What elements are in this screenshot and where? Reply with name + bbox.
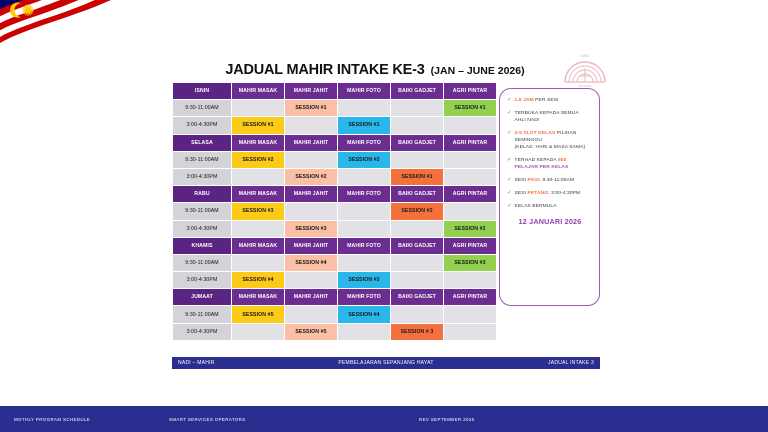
- empty-cell: [285, 306, 338, 323]
- empty-cell: [444, 203, 497, 220]
- time-slot-label: 9:30-11:00AM: [173, 306, 232, 323]
- session-cell[interactable]: SESSION #1: [232, 117, 285, 134]
- table-footer-right: JADUAL INTAKE 3: [457, 360, 600, 366]
- check-icon: ✓: [507, 130, 512, 137]
- schedule-row: 3:00-4:30PMSESSION #3SESSION #2: [173, 220, 497, 237]
- day-name-khamis: KHAMIS: [173, 237, 232, 254]
- empty-cell: [391, 306, 444, 323]
- page-footer-left: MOTHLY PROGRAM SCHEDULE: [14, 417, 154, 422]
- column-header-agri-pintar: AGRI PINTAR: [444, 83, 497, 100]
- page-title: JADUAL MAHIR INTAKE KE-3 (JAN – JUNE 202…: [175, 56, 575, 78]
- info-bullet: ✓3-5 SLOT KELAS PILIHANSEMINGGU(KELAS: H…: [507, 130, 593, 152]
- column-header-baiki-gadjet: BAIKI GADJET: [391, 186, 444, 203]
- info-bullet: ✓TERHAD KEPADA 500PELAJAR PER KELAS: [507, 157, 593, 171]
- session-cell[interactable]: SESSION #2: [391, 203, 444, 220]
- session-cell[interactable]: SESSION #2: [232, 151, 285, 168]
- session-cell[interactable]: SESSION #4: [285, 254, 338, 271]
- session-cell[interactable]: SESSION #2: [285, 168, 338, 185]
- session-cell[interactable]: SESSION #2: [338, 151, 391, 168]
- empty-cell: [391, 151, 444, 168]
- info-bullet: ✓TERBUKA KEPADA SEMUAAHLI NADI: [507, 110, 593, 124]
- info-panel: ✓1.5 JAM PER SESI✓TERBUKA KEPADA SEMUAAH…: [499, 88, 600, 306]
- empty-cell: [444, 323, 497, 340]
- info-bullet: ✓KELAS BERMULA: [507, 203, 593, 210]
- column-header-baiki-gadjet: BAIKI GADJET: [391, 134, 444, 151]
- page-footer-right: REV SEPTEMBER 2025: [419, 417, 619, 422]
- empty-cell: [391, 254, 444, 271]
- column-header-mahir-jahit: MAHIR JAHIT: [285, 83, 338, 100]
- column-header-agri-pintar: AGRI PINTAR: [444, 289, 497, 306]
- info-bullet-text: 3-5 SLOT KELAS PILIHANSEMINGGU(KELAS: HA…: [515, 130, 586, 152]
- column-header-mahir-masak: MAHIR MASAK: [232, 237, 285, 254]
- session-cell[interactable]: SESSION #4: [338, 306, 391, 323]
- session-cell[interactable]: SESSION #2: [444, 220, 497, 237]
- schedule-row: 3:00-4:30PMSESSION #4SESSION #3: [173, 272, 497, 289]
- empty-cell: [444, 117, 497, 134]
- nadi-circular-logo: NADI MALAYSIA: [557, 46, 613, 88]
- schedule-row: 9:30-11:00AMSESSION #1SESSION #1: [173, 100, 497, 117]
- session-cell[interactable]: SESSION # 3: [391, 323, 444, 340]
- empty-cell: [232, 220, 285, 237]
- schedule-day-header: RABUMAHIR MASAKMAHIR JAHITMAHIR FOTOBAIK…: [173, 186, 497, 203]
- time-slot-label: 9:30-11:00AM: [173, 100, 232, 117]
- info-bullet: ✓SESI PAGI: 9:30-11:00AM: [507, 177, 593, 184]
- schedule-row: 3:00-4:30PMSESSION #1SESSION #1: [173, 117, 497, 134]
- page-footer-center: SMART SERVICES OPERATORS: [169, 417, 369, 422]
- column-header-mahir-foto: MAHIR FOTO: [338, 289, 391, 306]
- empty-cell: [232, 323, 285, 340]
- session-cell[interactable]: SESSION #5: [285, 323, 338, 340]
- page-footer-bar: MOTHLY PROGRAM SCHEDULE SMART SERVICES O…: [0, 406, 768, 432]
- empty-cell: [338, 220, 391, 237]
- check-icon: ✓: [507, 157, 512, 164]
- empty-cell: [391, 100, 444, 117]
- empty-cell: [338, 100, 391, 117]
- table-footer-center: PEMBELAJARAN SEPANJANG HAYAT: [315, 360, 456, 366]
- session-cell[interactable]: SESSION #3: [285, 220, 338, 237]
- info-bullet-text: SESI PETANG: 3:00-4:30PM: [515, 190, 581, 197]
- schedule-day-header: KHAMISMAHIR MASAKMAHIR JAHITMAHIR FOTOBA…: [173, 237, 497, 254]
- check-icon: ✓: [507, 110, 512, 117]
- empty-cell: [444, 306, 497, 323]
- time-slot-label: 3:00-4:30PM: [173, 220, 232, 237]
- session-cell[interactable]: SESSION #3: [338, 272, 391, 289]
- class-start-date: 12 JANUARI 2026: [507, 217, 593, 226]
- time-slot-label: 9:30-11:00AM: [173, 151, 232, 168]
- schedule-row: 9:30-11:00AMSESSION #3SESSION #2: [173, 203, 497, 220]
- column-header-mahir-jahit: MAHIR JAHIT: [285, 186, 338, 203]
- schedule-row: 3:00-4:30PMSESSION #2SESSION #1: [173, 168, 497, 185]
- time-slot-label: 9:30-11:00AM: [173, 254, 232, 271]
- page-title-main: JADUAL MAHIR INTAKE KE-3: [225, 62, 424, 78]
- column-header-mahir-foto: MAHIR FOTO: [338, 134, 391, 151]
- page-title-period: (JAN – JUNE 2026): [431, 65, 525, 78]
- empty-cell: [338, 254, 391, 271]
- malaysia-flag: [0, 0, 160, 66]
- check-icon: ✓: [507, 97, 512, 104]
- empty-cell: [391, 272, 444, 289]
- check-icon: ✓: [507, 203, 512, 210]
- empty-cell: [232, 254, 285, 271]
- time-slot-label: 3:00-4:30PM: [173, 117, 232, 134]
- column-header-baiki-gadjet: BAIKI GADJET: [391, 83, 444, 100]
- day-name-jumaat: JUMAAT: [173, 289, 232, 306]
- svg-text:NADI: NADI: [581, 54, 589, 58]
- time-slot-label: 3:00-4:30PM: [173, 168, 232, 185]
- info-bullet: ✓1.5 JAM PER SESI: [507, 97, 593, 104]
- session-cell[interactable]: SESSION #1: [338, 117, 391, 134]
- empty-cell: [338, 203, 391, 220]
- info-bullet-text: TERHAD KEPADA 500PELAJAR PER KELAS: [515, 157, 569, 171]
- column-header-mahir-masak: MAHIR MASAK: [232, 289, 285, 306]
- table-footer-left: NADI – MAHIR: [172, 360, 315, 366]
- schedule-day-header: JUMAATMAHIR MASAKMAHIR JAHITMAHIR FOTOBA…: [173, 289, 497, 306]
- column-header-mahir-jahit: MAHIR JAHIT: [285, 237, 338, 254]
- time-slot-label: 3:00-4:30PM: [173, 323, 232, 340]
- session-cell[interactable]: SESSION #1: [285, 100, 338, 117]
- column-header-baiki-gadjet: BAIKI GADJET: [391, 237, 444, 254]
- empty-cell: [391, 220, 444, 237]
- schedule-row: 9:30-11:00AMSESSION #2SESSION #2: [173, 151, 497, 168]
- column-header-agri-pintar: AGRI PINTAR: [444, 134, 497, 151]
- day-name-rabu: RABU: [173, 186, 232, 203]
- column-header-mahir-masak: MAHIR MASAK: [232, 186, 285, 203]
- column-header-mahir-foto: MAHIR FOTO: [338, 237, 391, 254]
- column-header-mahir-masak: MAHIR MASAK: [232, 83, 285, 100]
- column-header-mahir-masak: MAHIR MASAK: [232, 134, 285, 151]
- day-name-isnin: ISNIN: [173, 83, 232, 100]
- info-bullet: ✓SESI PETANG: 3:00-4:30PM: [507, 190, 593, 197]
- schedule-row: 3:00-4:30PMSESSION #5SESSION # 3: [173, 323, 497, 340]
- empty-cell: [232, 168, 285, 185]
- empty-cell: [338, 323, 391, 340]
- empty-cell: [285, 203, 338, 220]
- schedule-row: 9:30-11:00AMSESSION #4SESSION #3: [173, 254, 497, 271]
- empty-cell: [285, 151, 338, 168]
- empty-cell: [338, 168, 391, 185]
- column-header-mahir-foto: MAHIR FOTO: [338, 83, 391, 100]
- column-header-baiki-gadjet: BAIKI GADJET: [391, 289, 444, 306]
- empty-cell: [232, 100, 285, 117]
- schedule-table: ISNINMAHIR MASAKMAHIR JAHITMAHIR FOTOBAI…: [172, 82, 497, 341]
- session-cell[interactable]: SESSION #1: [444, 100, 497, 117]
- session-cell[interactable]: SESSION #1: [391, 168, 444, 185]
- session-cell[interactable]: SESSION #3: [232, 203, 285, 220]
- time-slot-label: 3:00-4:30PM: [173, 272, 232, 289]
- column-header-mahir-jahit: MAHIR JAHIT: [285, 289, 338, 306]
- session-cell[interactable]: SESSION #3: [444, 254, 497, 271]
- column-header-mahir-jahit: MAHIR JAHIT: [285, 134, 338, 151]
- time-slot-label: 9:30-11:00AM: [173, 203, 232, 220]
- schedule-row: 9:30-11:00AMSESSION #5SESSION #4: [173, 306, 497, 323]
- info-bullet-text: SESI PAGI: 9:30-11:00AM: [515, 177, 575, 184]
- info-bullet-text: KELAS BERMULA: [515, 203, 557, 210]
- session-cell[interactable]: SESSION #5: [232, 306, 285, 323]
- schedule-day-header: SELASAMAHIR MASAKMAHIR JAHITMAHIR FOTOBA…: [173, 134, 497, 151]
- empty-cell: [285, 117, 338, 134]
- info-bullet-text: 1.5 JAM PER SESI: [515, 97, 559, 104]
- check-icon: ✓: [507, 190, 512, 197]
- day-name-selasa: SELASA: [173, 134, 232, 151]
- session-cell[interactable]: SESSION #4: [232, 272, 285, 289]
- column-header-mahir-foto: MAHIR FOTO: [338, 186, 391, 203]
- empty-cell: [444, 168, 497, 185]
- empty-cell: [285, 272, 338, 289]
- check-icon: ✓: [507, 177, 512, 184]
- empty-cell: [444, 272, 497, 289]
- schedule-day-header: ISNINMAHIR MASAKMAHIR JAHITMAHIR FOTOBAI…: [173, 83, 497, 100]
- column-header-agri-pintar: AGRI PINTAR: [444, 186, 497, 203]
- empty-cell: [391, 117, 444, 134]
- table-footer-bar: NADI – MAHIR PEMBELAJARAN SEPANJANG HAYA…: [172, 357, 600, 369]
- empty-cell: [444, 151, 497, 168]
- info-bullet-text: TERBUKA KEPADA SEMUAAHLI NADI: [515, 110, 579, 124]
- column-header-agri-pintar: AGRI PINTAR: [444, 237, 497, 254]
